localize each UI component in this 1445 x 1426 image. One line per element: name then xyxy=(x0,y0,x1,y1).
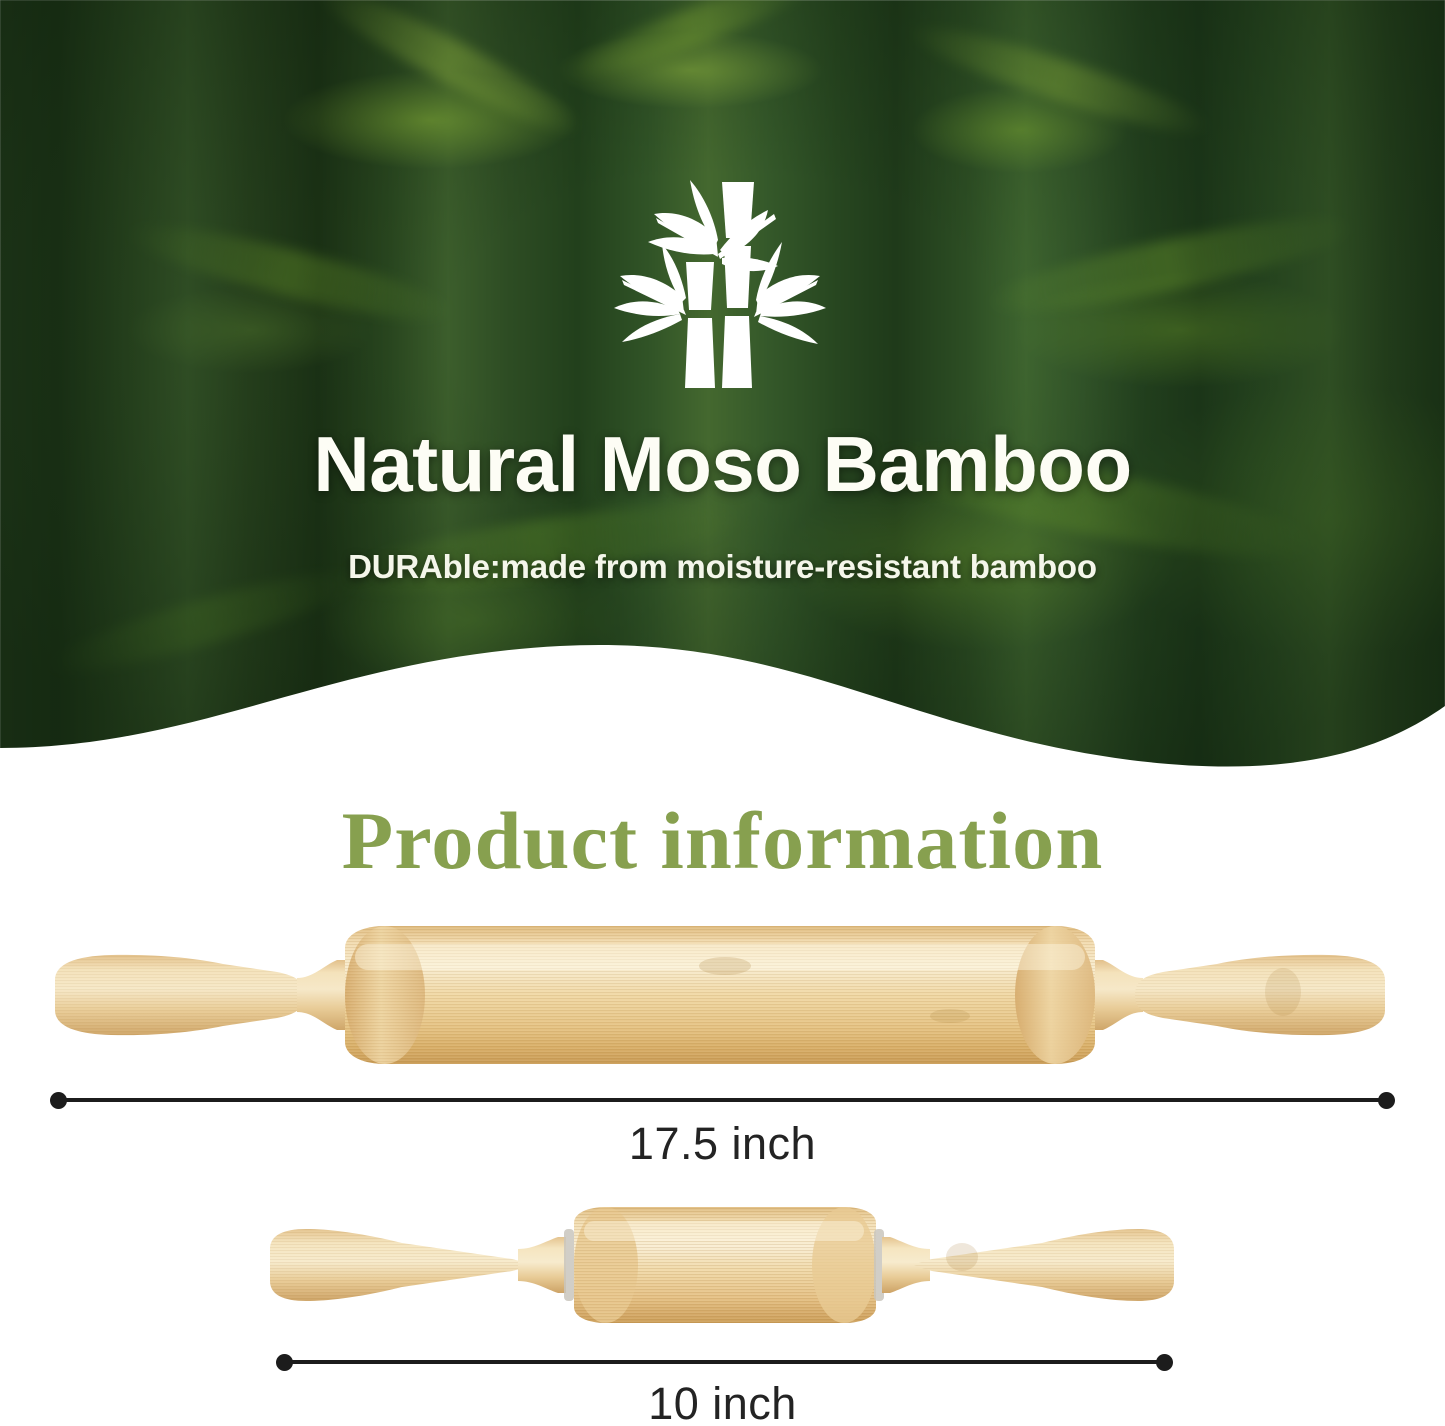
section-heading: Product information xyxy=(0,800,1445,882)
pin-handle-right-grain xyxy=(1135,955,1385,1035)
bamboo-logo xyxy=(598,160,848,400)
pin-handle-left-grain xyxy=(55,955,305,1035)
small-pin-handle-left-grain xyxy=(270,1229,530,1301)
measure-line-small xyxy=(284,1360,1164,1364)
pin-node-mark xyxy=(930,1009,970,1023)
page-title: Natural Moso Bamboo xyxy=(0,425,1445,503)
measure-dot-large-left xyxy=(50,1092,67,1109)
measure-dot-small-right xyxy=(1156,1354,1173,1371)
pin-node-mark xyxy=(699,957,751,975)
page-subtitle: DURAble:made from moisture-resistant bam… xyxy=(0,548,1445,586)
small-pin-collar-left xyxy=(518,1237,566,1293)
small-pin-handle-mark xyxy=(946,1243,978,1271)
small-rolling-pin-image xyxy=(262,1205,1182,1325)
measure-dot-large-right xyxy=(1378,1092,1395,1109)
large-rolling-pin-image xyxy=(45,920,1395,1070)
pin-neck-left xyxy=(297,960,345,1030)
measure-line-large xyxy=(58,1098,1388,1102)
product-infographic-page: Natural Moso Bamboo DURAble:made from mo… xyxy=(0,0,1445,1426)
bamboo-stalk-leaves-icon xyxy=(598,160,848,400)
measure-label-large: 17.5 inch xyxy=(0,1118,1445,1170)
small-rolling-pin-svg xyxy=(262,1205,1182,1325)
large-rolling-pin-svg xyxy=(45,920,1395,1070)
pin-handle-right-mark xyxy=(1265,968,1301,1016)
small-pin-barrel-highlight xyxy=(584,1221,864,1241)
measure-label-small: 10 inch xyxy=(0,1378,1445,1426)
measure-dot-small-left xyxy=(276,1354,293,1371)
small-pin-washer-left xyxy=(564,1229,574,1301)
